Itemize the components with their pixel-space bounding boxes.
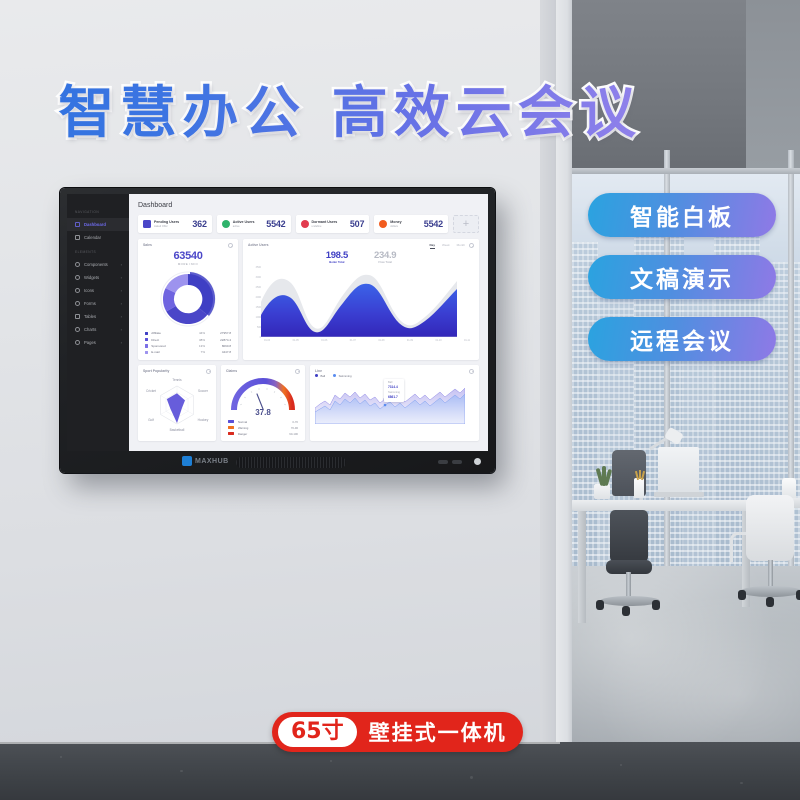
sidebar-item-forms[interactable]: Forms › [67,297,129,310]
flag-icon [143,220,151,228]
heart-icon [301,220,309,228]
size-badge: 65寸 壁挂式一体机 [272,712,523,752]
interactive-flat-panel: NAVIGATION Dashboard Calendar ELEMENTS C… [60,188,495,473]
device-button-2[interactable] [452,460,462,464]
stat-card-label: Active Users active [233,220,255,229]
legend-swatch [145,344,148,347]
sidebar-section-elements: ELEMENTS [67,244,129,258]
claims-card[interactable]: Claims [221,365,305,441]
y-tick: 3000 [248,276,261,279]
tab-week[interactable]: Week [442,243,450,249]
sidebar-item-charts[interactable]: Charts › [67,323,129,336]
office-chair-dark-base [600,596,660,606]
chevron-right-icon: › [121,314,122,319]
legend-swatch [228,426,234,429]
sidebar-item-label: Forms [84,301,96,306]
cloud-icon [222,220,230,228]
svg-text:Cricket: Cricket [146,389,156,393]
stat-card-label: Dormant Users undefine [312,220,338,229]
page-title: Dashboard [138,202,479,209]
svg-text:Tennis: Tennis [172,378,182,382]
stat-card-money[interactable]: Money dollars 5542 [374,215,448,233]
circ-icon [379,220,387,228]
sidebar-item-label: Widgets [84,275,99,280]
stat-card-title: Dormant Users [312,220,338,224]
tooltip-value: 6861.7 [388,395,400,400]
gear-icon[interactable] [469,243,474,248]
x-tick: 01-08 [378,339,384,342]
kpi-row: 198.5 Boiler Total 234.9 Flow Total [248,250,474,264]
home-icon [75,222,80,227]
legend-swatch [145,351,148,354]
sidebar-section-navigation: NAVIGATION [67,204,129,218]
area-chart [261,265,457,337]
legend-label: E-mail [151,350,189,354]
legend-amount: 4447.8 [205,350,231,354]
device-bottom-bezel: MAXHUB [60,451,495,473]
feature-pill-remote-meeting[interactable]: 远程会议 [588,317,776,361]
range-tabs: Day Week Month [430,243,465,249]
gear-icon[interactable] [469,369,474,374]
star-icon [75,288,80,293]
office-chair-white-base [740,586,800,597]
x-axis: 01-04 01-05 01-06 01-07 01-08 01-09 01-1… [248,339,474,342]
chevron-right-icon: › [121,275,122,280]
sidebar: NAVIGATION Dashboard Calendar ELEMENTS C… [67,194,129,451]
kpi-flow-total: 234.9 Flow Total [374,250,396,264]
legend-swatch [145,332,148,335]
x-tick: 01-10 [435,339,441,342]
stat-card-sub: dollars [390,225,398,228]
size-badge-label: 壁挂式一体机 [369,717,507,747]
stat-card-value: 5542 [266,219,285,229]
tooltip-value: 7314.4 [388,385,400,390]
line-card[interactable]: Line Ball Swimming [310,365,479,441]
stat-card-pending-users[interactable]: Pending Users Asked Offer 362 [138,215,212,233]
chevron-right-icon: › [121,327,122,332]
stat-card-title: Money [390,220,401,224]
pages-icon [75,340,80,345]
tab-day[interactable]: Day [430,243,436,249]
chart-tooltip: Ball 7314.4 Swimming 6861.7 [384,379,404,403]
chevron-right-icon: › [121,288,122,293]
stat-card-title: Pending Users [154,220,179,224]
y-tick: 2500 [248,286,261,289]
x-tick: 01-11 [464,339,470,342]
y-axis: 3500 3000 2500 2000 1500 1000 500 0 [248,265,261,339]
table-icon [75,314,80,319]
dashboard-content: Dashboard Pending Users Asked Offer 362 [129,194,488,451]
claims-value: 37.8 [226,408,300,417]
donut-chart [143,268,233,330]
stat-card-sub: undefine [312,225,322,228]
page-headline: 智慧办公 高效云会议 [0,68,700,149]
plant-pot [594,484,610,499]
legend-range: 0-70 [292,420,298,424]
svg-text:Soccer: Soccer [198,389,209,393]
window-mullion [556,168,800,174]
sidebar-item-label: Components [84,262,108,267]
legend-label: Sponsored [151,344,189,348]
sidebar-item-dashboard[interactable]: Dashboard [67,218,129,231]
chevron-right-icon: › [121,340,122,345]
stat-card-dormant-users[interactable]: Dormant Users undefine 507 [296,215,370,233]
main-chart-row: Sales 63540 MORE INFO [138,239,479,360]
svg-text:Basketball: Basketball [170,428,185,432]
legend-swatch [228,432,234,435]
sidebar-item-label: Calendar [84,235,101,240]
legend-swatch [333,374,336,377]
stat-card-sub: Asked Offer [154,225,168,228]
laptop-base [654,492,704,497]
add-card-button[interactable]: + [453,215,479,233]
legend-label: Danger [238,432,289,436]
card-title: Claims [226,369,300,373]
office-chair-white-backrest [746,495,794,561]
stat-card-label: Money dollars [390,220,401,229]
stat-card-active-users[interactable]: Active Users active 5542 [217,215,291,233]
legend-label: Warning [238,426,291,430]
feature-pill-whiteboard[interactable]: 智能白板 [588,193,776,237]
legend-percent: 13% [189,344,205,348]
office-chair-dark-seatback [610,510,648,562]
legend-label: Ball [321,374,326,378]
sidebar-item-components[interactable]: Components › [67,258,129,271]
sidebar-item-label: Pages [84,340,96,345]
x-tick: 01-07 [350,339,356,342]
claims-legend: Normal 0-70 Warning 70-90 Danger [226,419,300,437]
sidebar-item-calendar[interactable]: Calendar [67,231,129,244]
gear-icon[interactable] [206,369,211,374]
sidebar-item-label: Charts [84,327,96,332]
x-tick: 01-09 [407,339,413,342]
pen-cup [634,478,644,498]
legend-percent: 7% [189,350,205,354]
legend-percent: 38% [189,338,205,342]
desk-surface [572,500,754,511]
laptop-screen [658,447,699,493]
legend-item-swimming[interactable]: Swimming [333,374,351,378]
feature-pill-presentation[interactable]: 文稿演示 [588,255,776,299]
gear-icon[interactable] [295,369,300,374]
sales-card[interactable]: Sales 63540 MORE INFO [138,239,238,360]
sales-total: 63540 [143,250,233,262]
svg-text:Golf: Golf [148,418,154,422]
card-title: Sport Popularity [143,369,211,373]
legend-range: 90-100 [289,432,298,436]
y-tick: 500 [248,326,261,329]
sidebar-item-label: Icons [84,288,94,293]
legend-percent: 44% [189,331,205,335]
brand-logo-text: MAXHUB [195,458,229,465]
card-title: Sales [143,243,233,247]
feature-pill-list: 智能白板 文稿演示 远程会议 [588,193,788,379]
calendar-icon [75,235,80,240]
sport-popularity-card[interactable]: Sport Popularity [138,365,216,441]
x-tick: 01-06 [321,339,327,342]
sidebar-item-pages[interactable]: Pages › [67,336,129,349]
device-button-1[interactable] [438,460,448,464]
stat-card-row: Pending Users Asked Offer 362 Active Use… [138,215,479,233]
speaker-grille [236,457,346,468]
chevron-right-icon: › [121,301,122,306]
x-tick: 01-05 [293,339,299,342]
legend-swatch [145,338,148,341]
stat-card-value: 5542 [424,219,443,229]
legend-swatch [315,374,318,377]
stat-card-sub: active [233,225,240,228]
legend-amount: 8090.8 [205,344,231,348]
legend-item-ball[interactable]: Ball [315,374,325,378]
x-tick: 01-04 [264,339,270,342]
tab-month[interactable]: Month [457,243,465,249]
y-tick: 2000 [248,296,261,299]
stat-card-title: Active Users [233,220,255,224]
legend-range: 70-90 [291,426,298,430]
legend-label: Direct [151,338,189,342]
legend-amount: 22874.4 [205,338,231,342]
svg-text:Hockey: Hockey [198,418,209,422]
kpi-boiler-total: 198.5 Boiler Total [326,250,348,264]
sales-more-info: MORE INFO [143,262,233,266]
stat-card-label: Pending Users Asked Offer [154,220,179,229]
dashboard-app: NAVIGATION Dashboard Calendar ELEMENTS C… [67,194,488,451]
radar-chart: Tennis Soccer Hockey Basketball Golf Cri… [143,375,211,433]
active-users-card[interactable]: Active Users Day Week Month 198.5 Boiler… [243,239,479,360]
legend-label: Swimming [339,374,352,378]
size-badge-value: 65寸 [278,717,357,747]
bottom-chart-row: Sport Popularity [138,365,479,441]
chart-icon [75,327,80,332]
sidebar-item-widgets[interactable]: Widgets › [67,271,129,284]
power-indicator [474,458,481,465]
chevron-right-icon: › [121,262,122,267]
legend-swatch [228,420,234,423]
gear-icon[interactable] [228,243,233,248]
legend-row: E-mail 7% 4447.8 [143,349,233,355]
legend-amount: 27957.8 [205,331,231,335]
y-tick: 0 [248,336,261,339]
sidebar-item-tables[interactable]: Tables › [67,310,129,323]
form-icon [75,301,80,306]
sales-legend: Affiliate 44% 27957.8 Direct 38% 22874.4 [143,330,233,356]
y-tick: 3500 [248,266,261,269]
display-screen[interactable]: NAVIGATION Dashboard Calendar ELEMENTS C… [67,194,488,451]
sidebar-item-label: Dashboard [84,222,106,227]
y-tick: 1000 [248,316,261,319]
sidebar-item-icons[interactable]: Icons › [67,284,129,297]
stat-card-value: 362 [192,219,206,229]
brand-logo-mark [182,456,192,466]
brand-logo: MAXHUB [182,456,229,466]
stat-card-value: 507 [350,219,364,229]
widget-icon [75,275,80,280]
legend-row: Danger 90-100 [226,431,300,437]
legend-label: Normal [238,420,292,424]
legend-label: Affiliate [151,331,189,335]
y-tick: 1500 [248,306,261,309]
sidebar-item-label: Tables [84,314,96,319]
grid-icon [75,262,80,267]
